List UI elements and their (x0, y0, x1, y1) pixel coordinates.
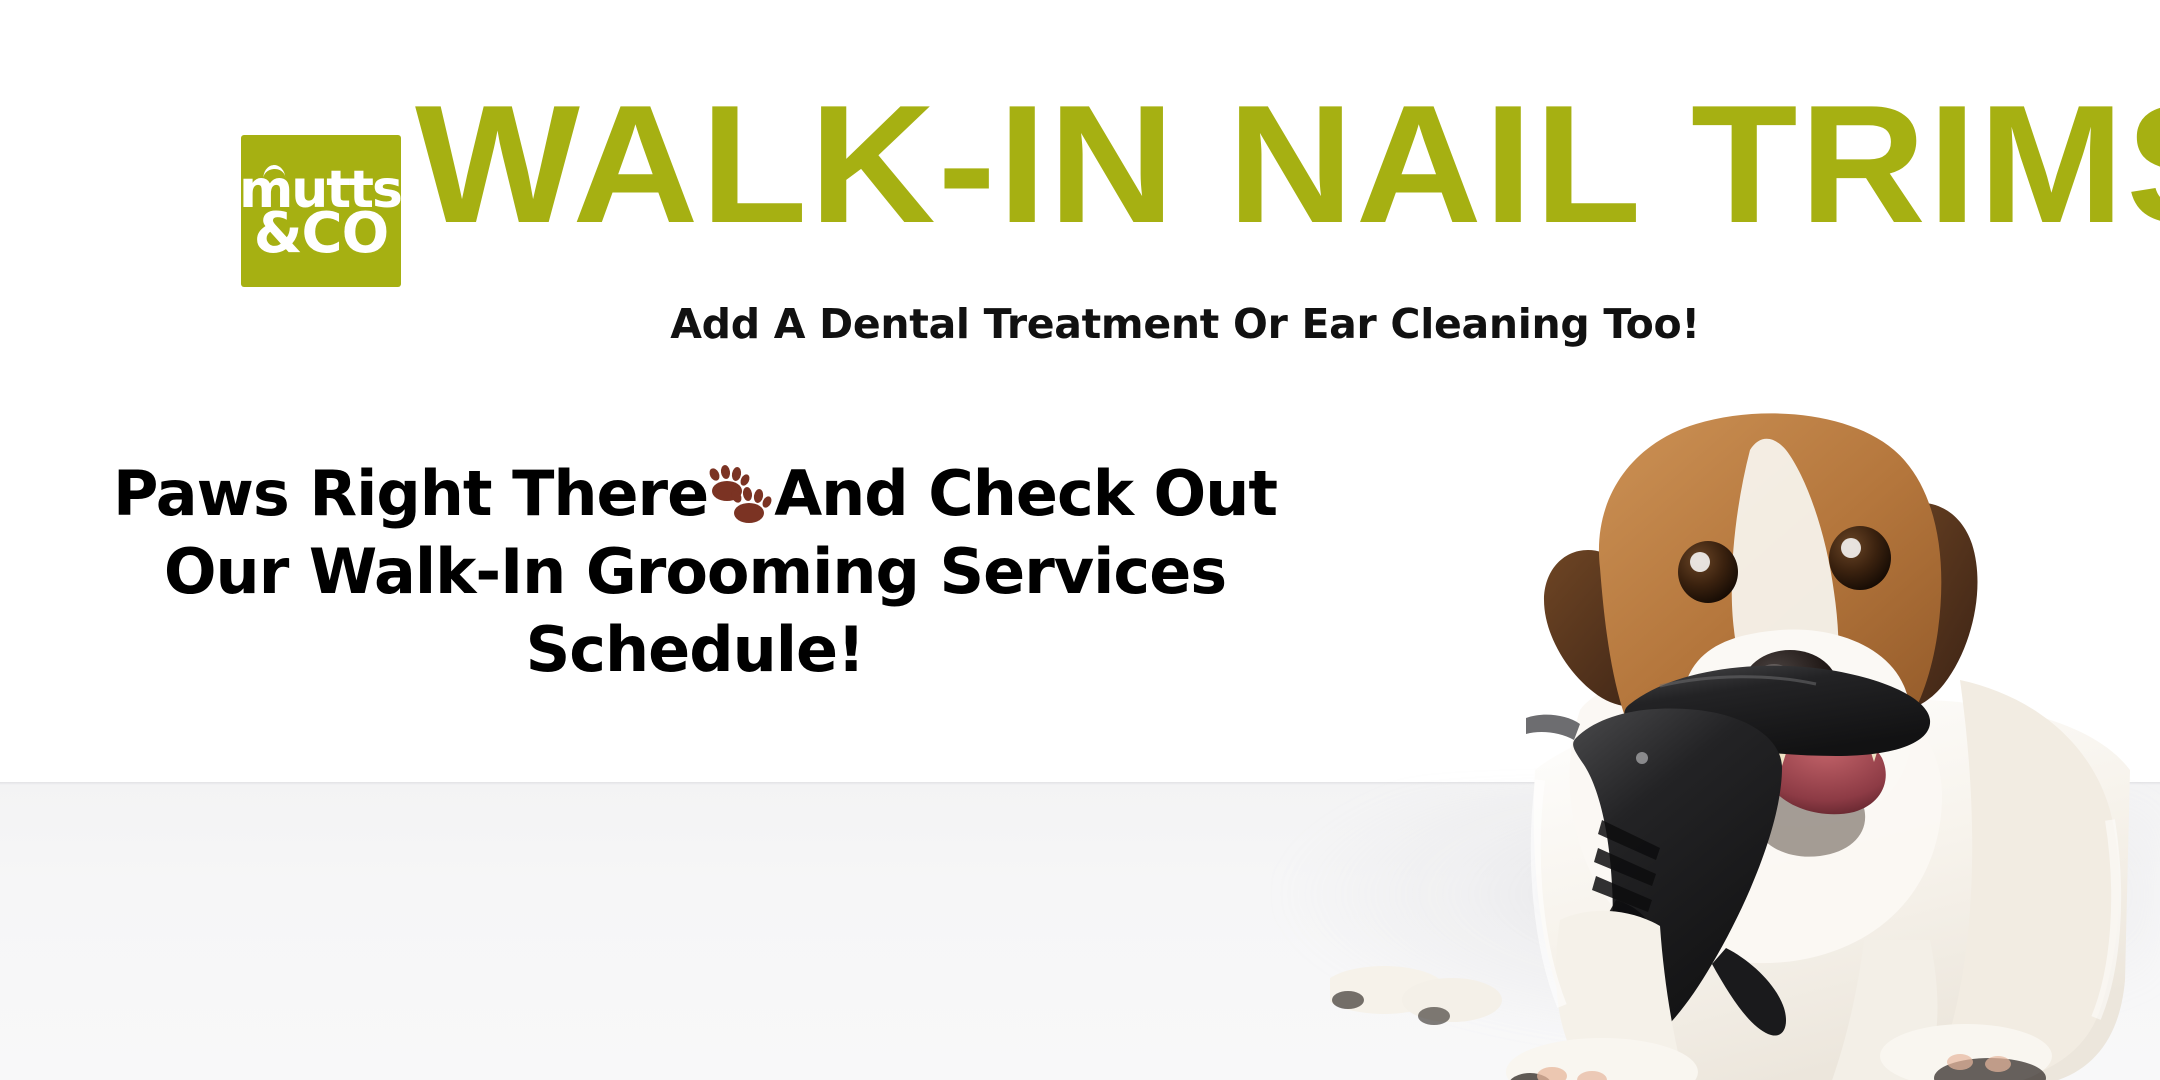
promo-line1-text-before: Paws Right There (113, 457, 708, 530)
dog-photo (1330, 300, 2160, 1080)
promo-line1-text-after: And Check Out (774, 457, 1277, 530)
promo-message-line-1: Paws Right ThereAnd Check Out (0, 455, 1390, 533)
walk-in-nail-trims-banner: mutts &CO WALK-IN NAIL TRIMS Add A Denta… (0, 0, 2160, 1080)
logo-wordmark-bottom: &CO (254, 210, 389, 258)
dog-left-eye (1678, 541, 1738, 603)
promo-message: Paws Right ThereAnd Check Out Our Walk-I… (0, 455, 1390, 689)
paw-prints-icon (706, 467, 772, 525)
promo-message-line-3: Schedule! (0, 611, 1390, 689)
dog-rear-paw-right (1402, 978, 1502, 1022)
header-row: mutts &CO WALK-IN NAIL TRIMS (0, 0, 2160, 300)
dog-right-eye (1829, 526, 1891, 590)
promo-message-line-2: Our Walk-In Grooming Services (0, 533, 1390, 611)
mutts-and-co-logo[interactable]: mutts &CO (241, 135, 401, 287)
page-title: WALK-IN NAIL TRIMS (415, 74, 1985, 254)
